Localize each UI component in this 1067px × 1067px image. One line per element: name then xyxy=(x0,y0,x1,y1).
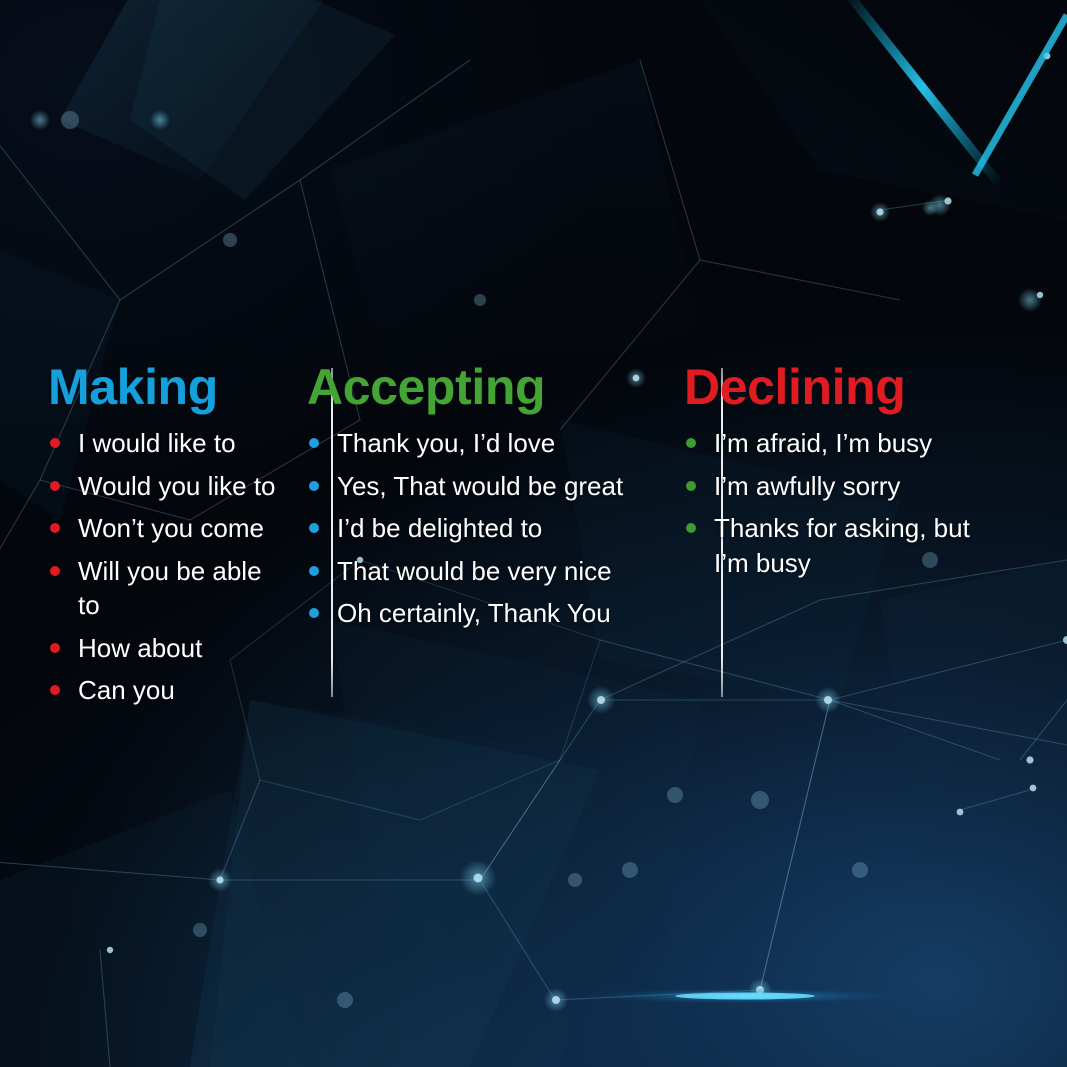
slide-canvas: Making I would like to Would you like to… xyxy=(0,0,1067,1067)
list-item-label: Thanks for asking, but I’m busy xyxy=(714,513,970,578)
list-item: How about xyxy=(48,631,285,666)
bullet-dot-icon xyxy=(50,523,60,533)
list-item: Thank you, I’d love xyxy=(307,426,670,461)
list-item: Would you like to xyxy=(48,469,285,504)
list-item-label: Oh certainly, Thank You xyxy=(337,598,611,628)
list-item: Will you be able to xyxy=(48,554,285,623)
bullet-dot-icon xyxy=(309,608,319,618)
list-item-label: I’m afraid, I’m busy xyxy=(714,428,932,458)
list-item: Thanks for asking, but I’m busy xyxy=(684,511,1010,580)
list-making: I would like to Would you like to Won’t … xyxy=(48,426,285,708)
bullet-dot-icon xyxy=(309,566,319,576)
list-item: Won’t you come xyxy=(48,511,285,546)
heading-accepting: Accepting xyxy=(307,362,670,412)
column-making: Making I would like to Would you like to… xyxy=(0,362,285,716)
list-item-label: Can you xyxy=(78,675,175,705)
column-accepting: Accepting Thank you, I’d love Yes, That … xyxy=(285,362,670,639)
bullet-dot-icon xyxy=(309,523,319,533)
bullet-dot-icon xyxy=(686,481,696,491)
list-item: I would like to xyxy=(48,426,285,461)
list-item: Oh certainly, Thank You xyxy=(307,596,670,631)
column-group: Making I would like to Would you like to… xyxy=(0,362,1067,716)
list-item-label: How about xyxy=(78,633,202,663)
bullet-dot-icon xyxy=(50,481,60,491)
list-item-label: Will you be able to xyxy=(78,556,262,621)
list-item-label: Yes, That would be great xyxy=(337,471,623,501)
list-item: Yes, That would be great xyxy=(307,469,670,504)
column-declining: Declining I’m afraid, I’m busy I’m awful… xyxy=(670,362,1010,588)
list-item-label: That would be very nice xyxy=(337,556,612,586)
bullet-dot-icon xyxy=(309,481,319,491)
bullet-dot-icon xyxy=(309,438,319,448)
list-item: I’m afraid, I’m busy xyxy=(684,426,1010,461)
list-item: I’m awfully sorry xyxy=(684,469,1010,504)
list-item-label: Would you like to xyxy=(78,471,276,501)
list-item-label: I’d be delighted to xyxy=(337,513,542,543)
heading-declining: Declining xyxy=(684,362,1010,412)
bullet-dot-icon xyxy=(50,685,60,695)
bullet-dot-icon xyxy=(686,438,696,448)
list-item-label: I’m awfully sorry xyxy=(714,471,900,501)
list-item: I’d be delighted to xyxy=(307,511,670,546)
list-item: Can you xyxy=(48,673,285,708)
bullet-dot-icon xyxy=(50,566,60,576)
list-item-label: I would like to xyxy=(78,428,236,458)
list-item-label: Won’t you come xyxy=(78,513,264,543)
list-declining: I’m afraid, I’m busy I’m awfully sorry T… xyxy=(684,426,1010,580)
bullet-dot-icon xyxy=(686,523,696,533)
bullet-dot-icon xyxy=(50,438,60,448)
list-accepting: Thank you, I’d love Yes, That would be g… xyxy=(307,426,670,631)
heading-making: Making xyxy=(48,362,285,412)
list-item: That would be very nice xyxy=(307,554,670,589)
list-item-label: Thank you, I’d love xyxy=(337,428,555,458)
bullet-dot-icon xyxy=(50,643,60,653)
